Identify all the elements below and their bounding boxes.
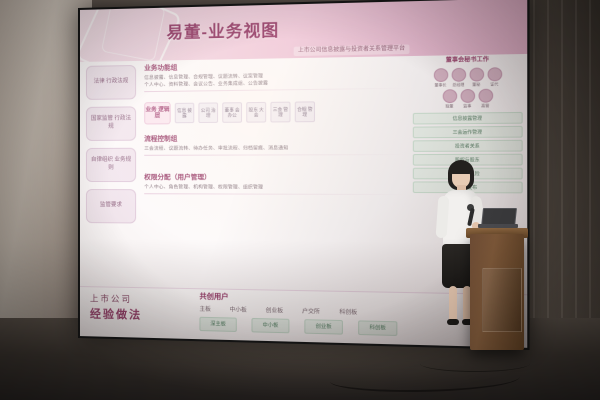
logic-box-0: 信息 披露 (175, 103, 195, 124)
avatar-0-name: 董事长 (433, 83, 447, 88)
presenter-left-leg (449, 286, 457, 322)
right-list-item-1: 三会运作管理 (413, 126, 523, 138)
footer-button-3: 科创板 (358, 320, 397, 336)
panel-permissions: 权限分配（用户管理） 个人中心、角色管理、机构管理、权限管理、组织管理 (144, 174, 406, 198)
logic-box-3: 股东 大会 (246, 102, 266, 123)
footer-tab-3: 户交所 (302, 308, 320, 316)
right-list-item-2: 投资者关系 (413, 140, 523, 152)
person-icon (469, 67, 484, 81)
footer-tab-1: 中小板 (230, 307, 247, 314)
left-pill-2: 自律组织 业务规则 (86, 148, 136, 182)
footer-button-2: 创业板 (304, 319, 343, 334)
person-icon (478, 89, 493, 103)
floor-cable-2 (420, 355, 530, 372)
presenter-left-shoe (447, 319, 459, 325)
avatar-1-name: 总经理 (451, 83, 466, 88)
panel-logic-layer: 业务 逻辑层 信息 披露 公司 治理 董事 会办公 股东 大会 三会 管理 合规… (144, 96, 406, 124)
logic-box-4: 三会 管理 (270, 102, 290, 123)
avatar-0: 董事长 (433, 68, 447, 88)
presenter-fringe (449, 163, 473, 174)
slide-subtitle: 上市公司信息披露与投资者关系管理平台 (294, 44, 410, 55)
panel-2-divider (144, 154, 406, 156)
footer-button-1: 中小板 (251, 318, 289, 333)
right-column-title: 董事会秘书工作 (413, 56, 523, 65)
person-icon (460, 89, 475, 103)
logic-box-5: 合规 管理 (295, 101, 315, 122)
panel-3-line-0: 个人中心、角色管理、机构管理、权限管理、组织管理 (144, 184, 406, 191)
person-icon (451, 68, 466, 82)
footer-tab-4: 科创板 (339, 309, 357, 317)
left-pill-1: 国家监管 行政法规 (86, 106, 136, 141)
avatar-row-1: 董事长 总经理 董秘 (413, 67, 523, 88)
footer-button-0: 深主板 (199, 316, 236, 331)
avatar-4-name: 独董 (442, 104, 456, 109)
person-icon (433, 68, 447, 82)
avatar-5-name: 监事 (460, 104, 475, 109)
avatar-5: 监事 (460, 89, 475, 109)
footer-left-block: 上市公司 经验做法 (90, 293, 142, 323)
footer-mid-title: 共创用户 (199, 293, 397, 306)
avatar-3: 证代 (487, 67, 502, 87)
footer-mid-block: 共创用户 主板 中小板 创业板 户交所 科创板 深主板 中小板 创业板 (199, 293, 397, 335)
laptop (476, 208, 518, 230)
logic-box-1: 公司 治理 (198, 102, 218, 123)
avatar-6-name: 高管 (478, 104, 493, 109)
avatar-4: 独董 (442, 90, 456, 110)
slide-left-column: 法律 行政法规 国家监管 行政法规 自律组织 业务规则 监管要求 (86, 65, 140, 231)
footer-line-1: 上市公司 (90, 293, 142, 305)
panel-business-functions: 业务功能组 信息披露、信息管理、合规管理、议题流转、议案管理 个人中心、资料管理… (144, 60, 406, 95)
slide-header: 易董-业务视图 上市公司信息披露与投资者关系管理平台 (80, 0, 527, 62)
footer-tab-0: 主板 (199, 306, 210, 313)
avatar-2-name: 董秘 (469, 82, 484, 87)
person-icon (442, 90, 456, 104)
footer-line-2: 经验做法 (90, 308, 142, 323)
panel-2-line-0: 三会流程、议题流转、待办任务、审批流程、归档留痕、消息通知 (144, 145, 406, 152)
right-list-item-0: 信息披露管理 (413, 112, 523, 125)
left-pill-3: 监管要求 (86, 189, 136, 223)
logic-layer-box-row: 业务 逻辑层 信息 披露 公司 治理 董事 会办公 股东 大会 三会 管理 合规… (144, 99, 406, 124)
avatar-6: 高管 (478, 89, 493, 109)
footer-buttons: 深主板 中小板 创业板 科创板 (199, 316, 397, 335)
podium-body (470, 234, 524, 350)
slide-title: 易董-业务视图 (167, 21, 280, 44)
footer-tabs: 主板 中小板 创业板 户交所 科创板 (199, 306, 397, 317)
conference-room-photo: 易董-业务视图 上市公司信息披露与投资者关系管理平台 法律 行政法规 国家监管 … (0, 0, 600, 400)
panel-2-title: 流程控制组 (144, 134, 406, 144)
decorative-square-inner-icon (101, 0, 166, 62)
footer-tab-2: 创业板 (266, 308, 283, 315)
person-icon (487, 67, 502, 81)
avatar-1: 总经理 (451, 68, 466, 88)
avatar-2: 董秘 (469, 67, 484, 87)
avatar-3-name: 证代 (487, 82, 502, 87)
laptop-keyboard (478, 224, 518, 228)
logic-layer-primary-box: 业务 逻辑层 (144, 102, 170, 125)
panel-process-control: 流程控制组 三会流程、议题流转、待办任务、审批流程、归档留痕、消息通知 (144, 134, 406, 159)
avatar-row-2: 独董 监事 高管 (413, 89, 523, 110)
logic-box-2: 董事 会办公 (222, 102, 242, 123)
panel-3-divider (144, 193, 406, 195)
left-pill-0: 法律 行政法规 (86, 65, 136, 100)
panel-3-title: 权限分配（用户管理） (144, 174, 406, 183)
podium-front-panel (482, 268, 522, 332)
podium (466, 222, 528, 354)
panel-0-divider (144, 88, 406, 92)
